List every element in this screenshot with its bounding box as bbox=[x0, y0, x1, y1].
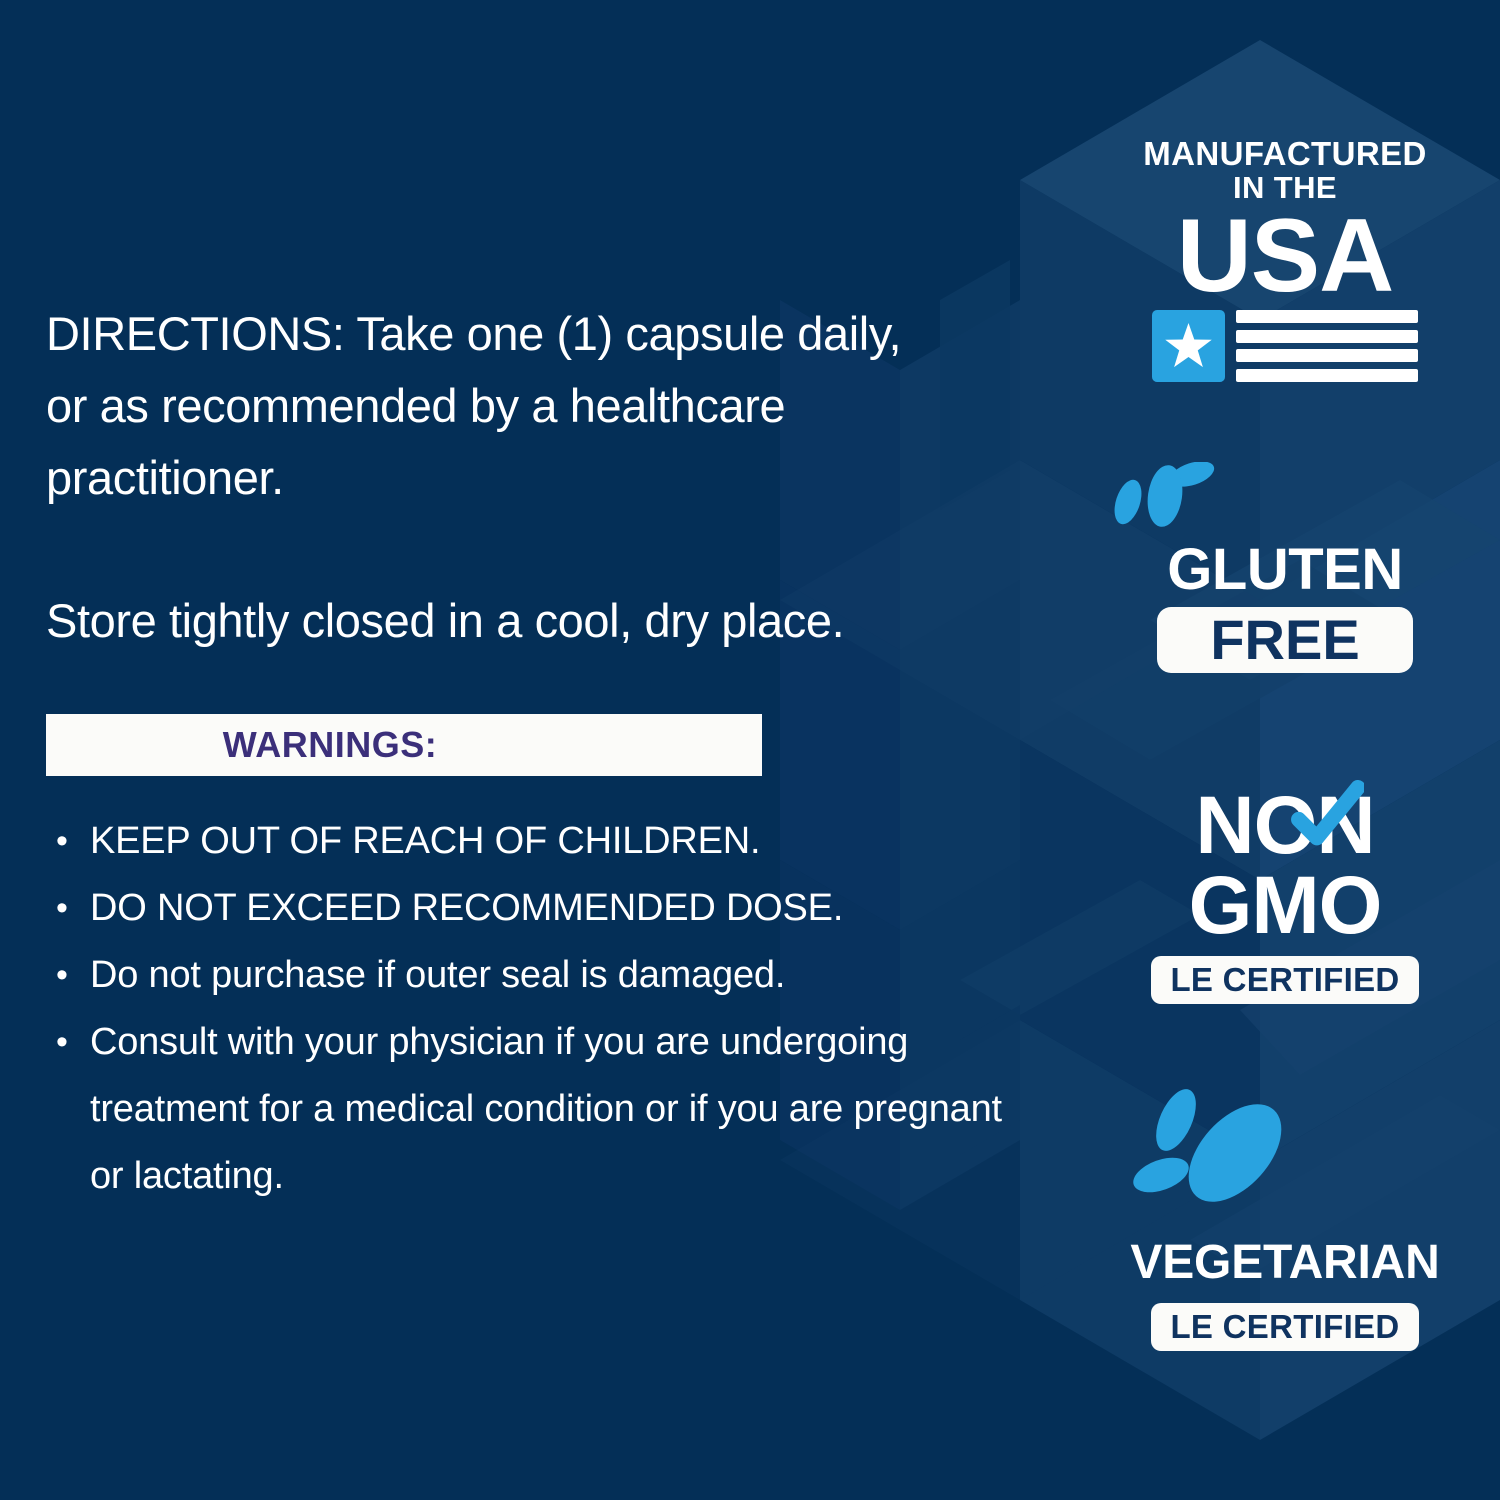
bullet-icon: • bbox=[56, 808, 68, 875]
badge-vegetarian: VEGETARIAN LE CERTIFIED bbox=[1095, 1080, 1475, 1360]
warnings-banner-label: WARNINGS: bbox=[223, 724, 438, 766]
flag-stripe bbox=[1236, 310, 1418, 323]
directions-block: DIRECTIONS: Take one (1) capsule daily, … bbox=[46, 298, 1006, 514]
vegetarian-certified-pill: LE CERTIFIED bbox=[1151, 1303, 1419, 1351]
leaves-icon bbox=[1095, 1080, 1315, 1220]
non-text: NON bbox=[1195, 780, 1374, 871]
storage-instructions-block: Store tightly closed in a cool, dry plac… bbox=[46, 590, 1006, 652]
flag-stripe bbox=[1236, 330, 1418, 343]
flag-stripes bbox=[1236, 310, 1418, 382]
gmo-line: GMO bbox=[1095, 866, 1475, 946]
warnings-list: • KEEP OUT OF REACH OF CHILDREN. • DO NO… bbox=[48, 808, 1038, 1210]
vegetarian-word: VEGETARIAN bbox=[1095, 1235, 1475, 1291]
directions-line-3: practitioner. bbox=[46, 442, 1006, 514]
bullet-icon: • bbox=[56, 1009, 68, 1076]
usa-word: USA bbox=[1095, 208, 1475, 304]
badge-gluten-free: GLUTEN FREE bbox=[1095, 462, 1475, 692]
certification-badge-column: MANUFACTURED IN THE USA bbox=[1095, 0, 1475, 1500]
warnings-banner: WARNINGS: bbox=[46, 714, 762, 776]
directions-line-1: DIRECTIONS: Take one (1) capsule daily, bbox=[46, 298, 1006, 370]
badge-manufactured-in-usa: MANUFACTURED IN THE USA bbox=[1095, 136, 1475, 406]
usa-caption-line-1: MANUFACTURED bbox=[1095, 136, 1475, 171]
gluten-free-pill-label: FREE bbox=[1210, 612, 1359, 668]
flag-stripe bbox=[1236, 349, 1418, 362]
bullet-icon: • bbox=[56, 875, 68, 942]
bullet-icon: • bbox=[56, 942, 68, 1009]
warning-item-text: KEEP OUT OF REACH OF CHILDREN. bbox=[90, 820, 760, 862]
wheat-leaves-icon bbox=[1095, 462, 1235, 528]
warning-list-item: • KEEP OUT OF REACH OF CHILDREN. bbox=[48, 808, 1038, 875]
directions-line-2: or as recommended by a healthcare bbox=[46, 370, 1006, 442]
supplement-label-panel: DIRECTIONS: Take one (1) capsule daily, … bbox=[0, 0, 1500, 1500]
non-gmo-certified-label: LE CERTIFIED bbox=[1170, 961, 1399, 999]
label-text-column: DIRECTIONS: Take one (1) capsule daily, … bbox=[46, 0, 1046, 1500]
gluten-free-pill: FREE bbox=[1157, 607, 1413, 673]
gmo-text: GMO bbox=[1189, 860, 1382, 951]
warning-list-item: • DO NOT EXCEED RECOMMENDED DOSE. bbox=[48, 875, 1038, 942]
star-icon bbox=[1164, 322, 1213, 371]
warning-item-text: DO NOT EXCEED RECOMMENDED DOSE. bbox=[90, 887, 843, 929]
flag-stripe bbox=[1236, 369, 1418, 382]
usa-flag-icon bbox=[1152, 310, 1418, 382]
warning-list-item: • Do not purchase if outer seal is damag… bbox=[48, 942, 1038, 1009]
usa-caption: MANUFACTURED IN THE bbox=[1095, 136, 1475, 204]
vegetarian-certified-label: LE CERTIFIED bbox=[1170, 1308, 1399, 1346]
non-line: NON bbox=[1095, 786, 1475, 866]
gluten-word: GLUTEN bbox=[1095, 539, 1475, 601]
badge-non-gmo: NON GMO LE CERTIFIED bbox=[1095, 786, 1475, 1026]
warning-item-text: Do not purchase if outer seal is damaged… bbox=[90, 954, 785, 996]
storage-line-1: Store tightly closed in a cool, dry plac… bbox=[46, 590, 1006, 652]
warning-list-item: • Consult with your physician if you are… bbox=[48, 1009, 1038, 1210]
warning-item-text: Consult with your physician if you are u… bbox=[90, 1021, 1002, 1197]
non-gmo-certified-pill: LE CERTIFIED bbox=[1151, 956, 1419, 1004]
